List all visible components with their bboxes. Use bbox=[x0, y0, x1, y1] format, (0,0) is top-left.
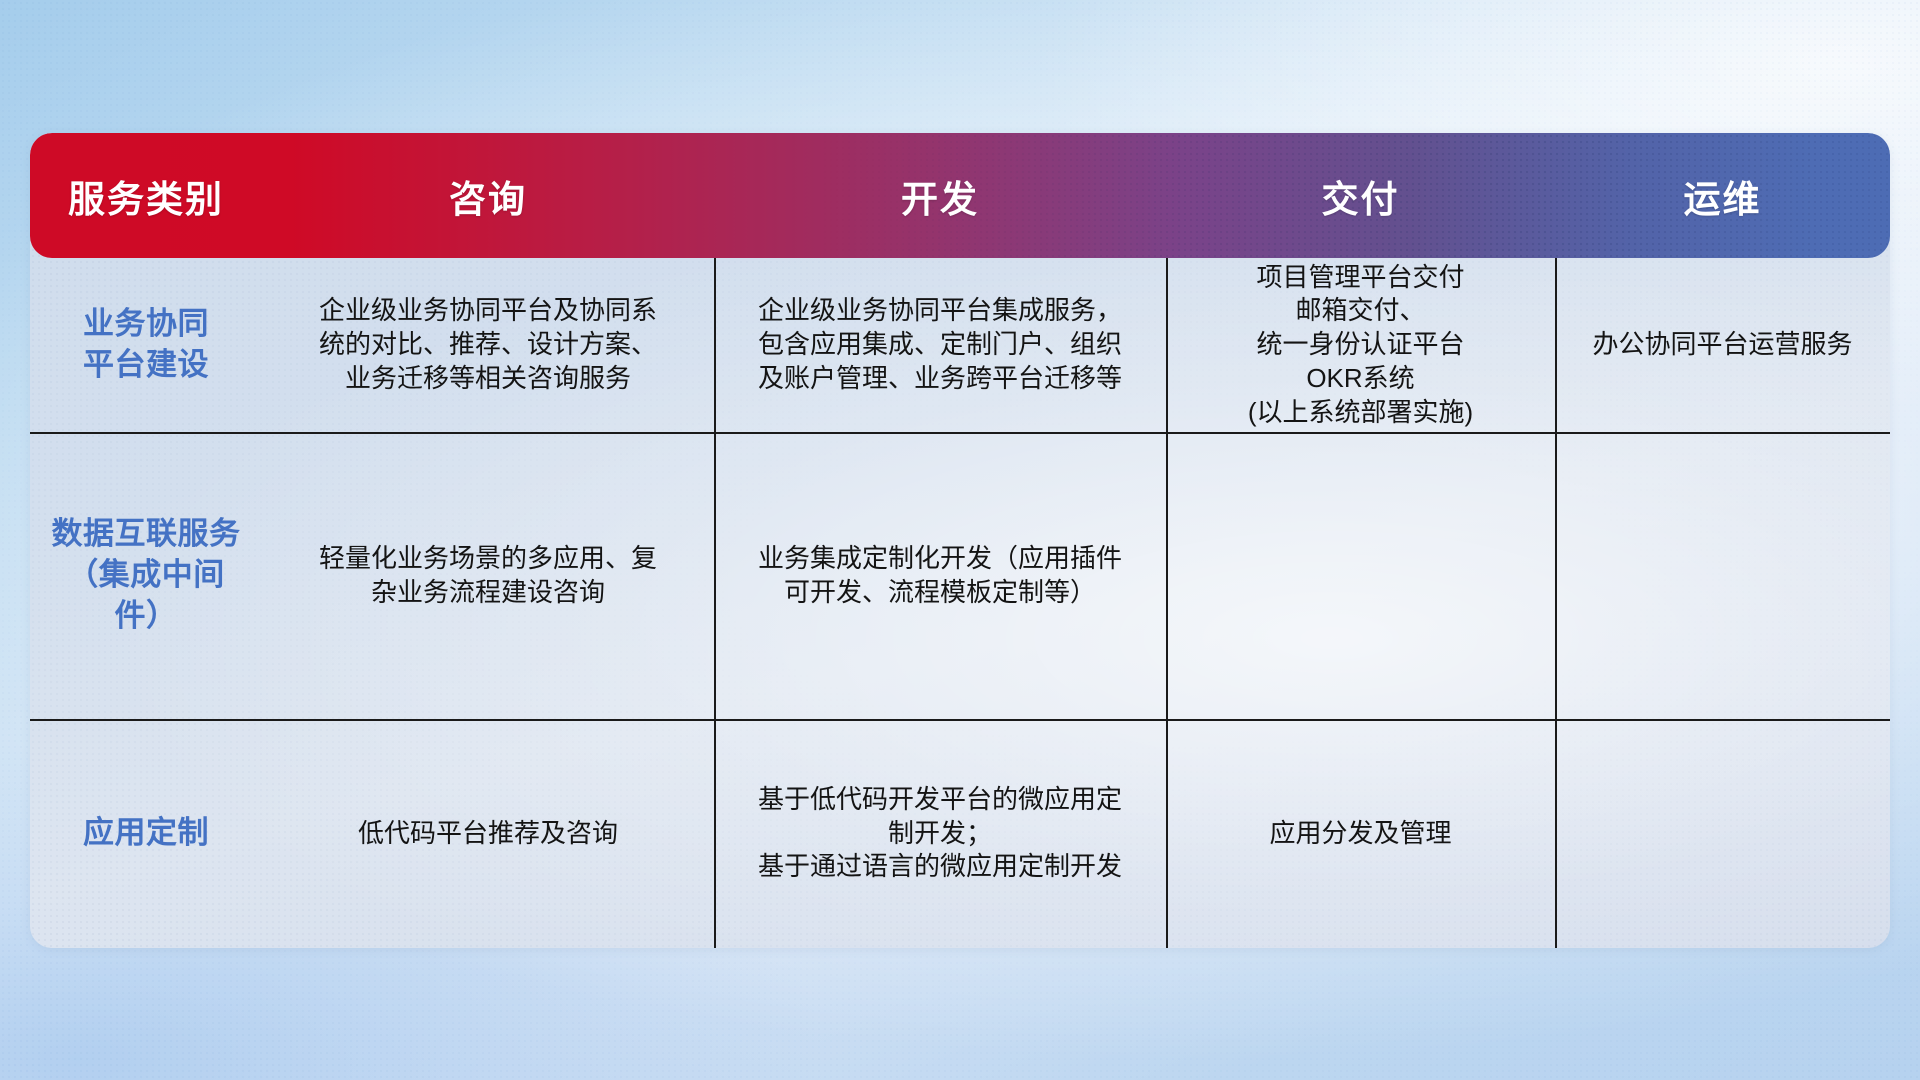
header-cell-development: 开发 bbox=[714, 169, 1166, 223]
cell-operations bbox=[1555, 719, 1890, 948]
header-cell-consulting: 咨询 bbox=[262, 169, 714, 223]
row-category-label: 应用定制 bbox=[30, 719, 262, 948]
row-category-label: 数据互联服务 （集成中间件） bbox=[30, 432, 262, 719]
row-category-label: 业务协同 平台建设 bbox=[30, 258, 262, 432]
cell-consulting: 企业级业务协同平台及协同系 统的对比、推荐、设计方案、 业务迁移等相关咨询服务 bbox=[262, 258, 714, 432]
row-divider bbox=[30, 719, 1890, 721]
table-row: 应用定制 低代码平台推荐及咨询 基于低代码开发平台的微应用定 制开发； 基于通过… bbox=[30, 719, 1890, 948]
cell-delivery: 应用分发及管理 bbox=[1166, 719, 1555, 948]
header-cell-delivery: 交付 bbox=[1166, 169, 1555, 223]
service-matrix-panel: 服务类别 咨询 开发 交付 运维 业务协同 平台建设 企业级业务协同平台及协同系… bbox=[30, 133, 1890, 948]
column-divider bbox=[714, 258, 716, 948]
cell-delivery bbox=[1166, 432, 1555, 719]
table-body: 业务协同 平台建设 企业级业务协同平台及协同系 统的对比、推荐、设计方案、 业务… bbox=[30, 258, 1890, 948]
cell-delivery: 项目管理平台交付 邮箱交付、 统一身份认证平台 OKR系统 (以上系统部署实施) bbox=[1166, 258, 1555, 432]
table-header-bar: 服务类别 咨询 开发 交付 运维 bbox=[30, 133, 1890, 258]
column-divider bbox=[1555, 258, 1557, 948]
cell-consulting: 轻量化业务场景的多应用、复 杂业务流程建设咨询 bbox=[262, 432, 714, 719]
cell-development: 企业级业务协同平台集成服务， 包含应用集成、定制门户、组织 及账户管理、业务跨平… bbox=[714, 258, 1166, 432]
cell-operations: 办公协同平台运营服务 bbox=[1555, 258, 1890, 432]
cell-consulting: 低代码平台推荐及咨询 bbox=[262, 719, 714, 948]
cell-development: 业务集成定制化开发（应用插件 可开发、流程模板定制等） bbox=[714, 432, 1166, 719]
header-cell-operations: 运维 bbox=[1555, 169, 1890, 223]
cell-operations bbox=[1555, 432, 1890, 719]
table-row: 数据互联服务 （集成中间件） 轻量化业务场景的多应用、复 杂业务流程建设咨询 业… bbox=[30, 432, 1890, 719]
table-row: 业务协同 平台建设 企业级业务协同平台及协同系 统的对比、推荐、设计方案、 业务… bbox=[30, 258, 1890, 432]
row-divider bbox=[30, 432, 1890, 434]
cell-development: 基于低代码开发平台的微应用定 制开发； 基于通过语言的微应用定制开发 bbox=[714, 719, 1166, 948]
column-divider bbox=[1166, 258, 1168, 948]
header-cell-service-category: 服务类别 bbox=[30, 169, 262, 223]
